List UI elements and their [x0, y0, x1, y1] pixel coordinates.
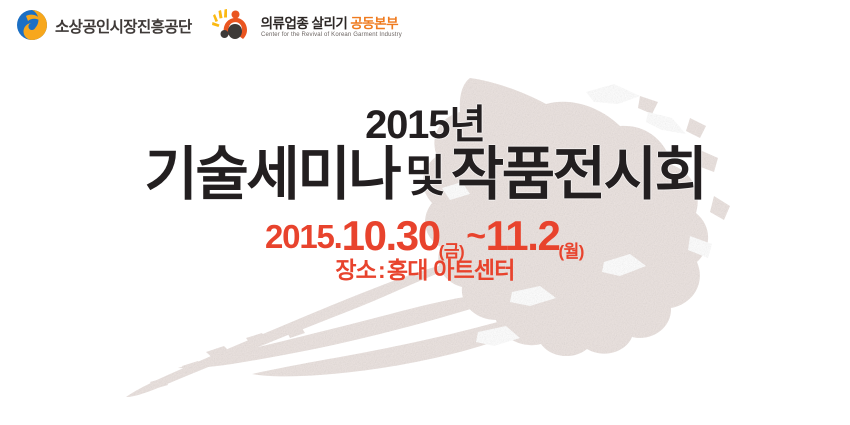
date-end-day: 2 [538, 212, 560, 259]
poster-title-mid: 및 [399, 152, 450, 201]
date-start-day: 30 [396, 212, 440, 259]
date-end-month: 11. [486, 212, 538, 259]
logo-garment-text: 의류업종 살리기공동본부 Center for the Revival of K… [261, 17, 406, 39]
poster-title-left: 기술세미나 [144, 142, 399, 207]
venue-label: 장소 [335, 257, 376, 283]
logo-garment-kr-line: 의류업종 살리기공동본부 [261, 17, 406, 31]
date-start-month: 10. [342, 212, 396, 259]
poster-date: 2015.10.30(금)~11.2(월) [0, 215, 850, 257]
logo-sems-label: 소상공인시장진흥공단 [55, 20, 192, 36]
garment-revival-logo-icon [212, 8, 254, 47]
logo-garment-kr-dark: 의류업종 살리기 [261, 16, 348, 31]
venue-colon: : [376, 257, 387, 283]
logo-garment-en-subtitle: Center for the Revival of Korean Garment… [261, 32, 402, 38]
date-start-prefix: 2015. [265, 218, 342, 255]
logo-bar: 소상공인시장진흥공단 [16, 8, 406, 47]
venue-name: 홍대 아트센터 [387, 257, 515, 283]
logo-garment-revival[interactable]: 의류업종 살리기공동본부 Center for the Revival of K… [212, 8, 406, 47]
event-banner: 소상공인시장진흥공단 [0, 0, 850, 425]
logo-garment-kr-accent: 공동본부 [350, 16, 398, 31]
poster-year: 2015년 [0, 105, 850, 145]
sems-swirl-logo-icon [16, 9, 48, 46]
poster-title-right: 작품전시회 [451, 142, 706, 207]
logo-sems[interactable]: 소상공인시장진흥공단 [16, 9, 192, 46]
poster-venue: 장소:홍대 아트센터 [0, 259, 850, 282]
poster-title: 기술세미나및작품전시회 [0, 146, 850, 204]
date-separator: ~ [465, 217, 485, 255]
